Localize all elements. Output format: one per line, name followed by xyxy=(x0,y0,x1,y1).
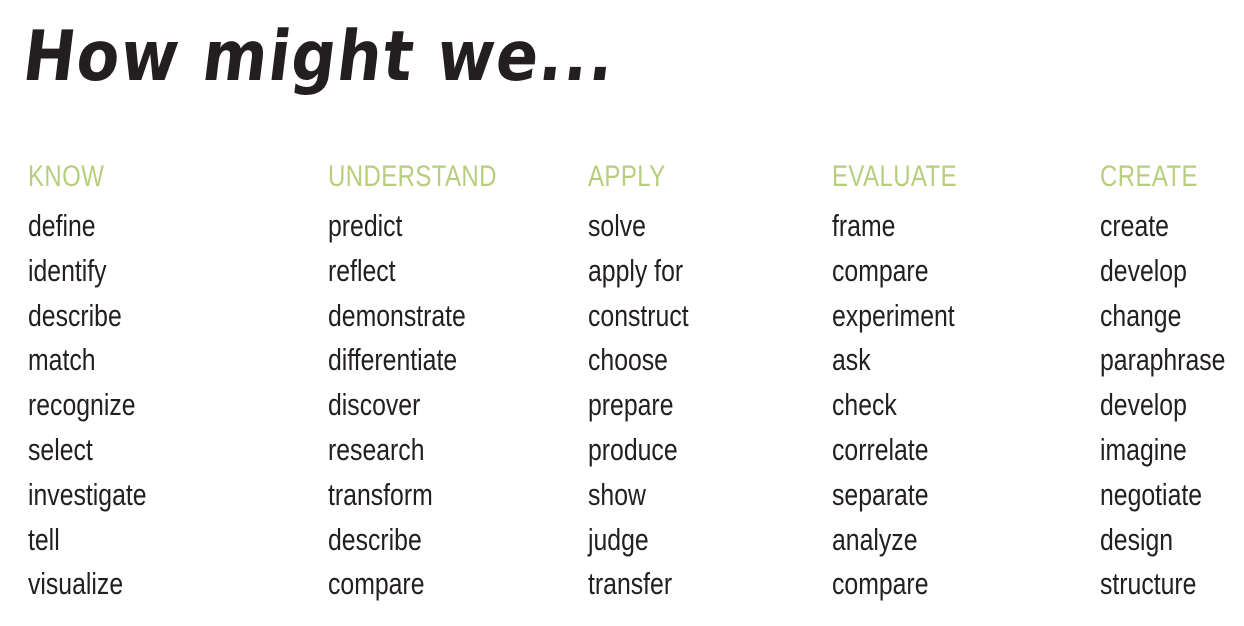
list-item: develop xyxy=(1100,383,1244,428)
how-might-we-poster: How might we... KNOW define identify des… xyxy=(0,0,1244,626)
verb-list-know: define identify describe match recognize… xyxy=(28,204,328,607)
list-item: choose xyxy=(588,338,782,383)
list-item: negotiate xyxy=(1100,473,1244,518)
list-item: construct xyxy=(588,294,782,339)
list-item: separate xyxy=(832,473,1045,518)
list-item: compare xyxy=(832,562,1045,607)
list-item: select xyxy=(28,428,268,473)
list-item: differentiate xyxy=(328,338,534,383)
column-header-apply: APPLY xyxy=(588,160,782,194)
list-item: transform xyxy=(328,473,534,518)
list-item: define xyxy=(28,204,268,249)
verb-list-evaluate: frame compare experiment ask check corre… xyxy=(832,204,1098,607)
list-item: experiment xyxy=(832,294,1045,339)
list-item: investigate xyxy=(28,473,268,518)
list-item: create xyxy=(1100,204,1244,249)
list-item: compare xyxy=(832,249,1045,294)
list-item: analyze xyxy=(832,518,1045,563)
list-item: describe xyxy=(328,518,534,563)
page-title: How might we... xyxy=(19,22,619,91)
list-item: compare xyxy=(328,562,534,607)
verb-list-apply: solve apply for construct choose prepare… xyxy=(588,204,830,607)
column-evaluate: EVALUATE frame compare experiment ask ch… xyxy=(832,160,1098,607)
list-item: match xyxy=(28,338,268,383)
list-item: frame xyxy=(832,204,1045,249)
column-know: KNOW define identify describe match reco… xyxy=(28,160,328,607)
list-item: show xyxy=(588,473,782,518)
list-item: describe xyxy=(28,294,268,339)
verb-list-understand: predict reflect demonstrate differentiat… xyxy=(328,204,586,607)
column-header-create: CREATE xyxy=(1100,160,1244,194)
column-create: CREATE create develop change paraphrase … xyxy=(1100,160,1244,607)
list-item: correlate xyxy=(832,428,1045,473)
list-item: judge xyxy=(588,518,782,563)
list-item: discover xyxy=(328,383,534,428)
verb-list-create: create develop change paraphrase develop… xyxy=(1100,204,1244,607)
list-item: produce xyxy=(588,428,782,473)
verb-columns: KNOW define identify describe match reco… xyxy=(0,160,1244,610)
list-item: recognize xyxy=(28,383,268,428)
list-item: structure xyxy=(1100,562,1244,607)
list-item: transfer xyxy=(588,562,782,607)
list-item: apply for xyxy=(588,249,782,294)
column-header-know: KNOW xyxy=(28,160,268,194)
column-header-evaluate: EVALUATE xyxy=(832,160,1045,194)
column-understand: UNDERSTAND predict reflect demonstrate d… xyxy=(328,160,586,607)
list-item: identify xyxy=(28,249,268,294)
list-item: tell xyxy=(28,518,268,563)
list-item: design xyxy=(1100,518,1244,563)
list-item: change xyxy=(1100,294,1244,339)
list-item: develop xyxy=(1100,249,1244,294)
column-apply: APPLY solve apply for construct choose p… xyxy=(588,160,830,607)
list-item: demonstrate xyxy=(328,294,534,339)
list-item: predict xyxy=(328,204,534,249)
list-item: visualize xyxy=(28,562,268,607)
list-item: research xyxy=(328,428,534,473)
list-item: imagine xyxy=(1100,428,1244,473)
list-item: prepare xyxy=(588,383,782,428)
column-header-understand: UNDERSTAND xyxy=(328,160,534,194)
list-item: solve xyxy=(588,204,782,249)
list-item: check xyxy=(832,383,1045,428)
list-item: ask xyxy=(832,338,1045,383)
list-item: reflect xyxy=(328,249,534,294)
list-item: paraphrase xyxy=(1100,338,1244,383)
